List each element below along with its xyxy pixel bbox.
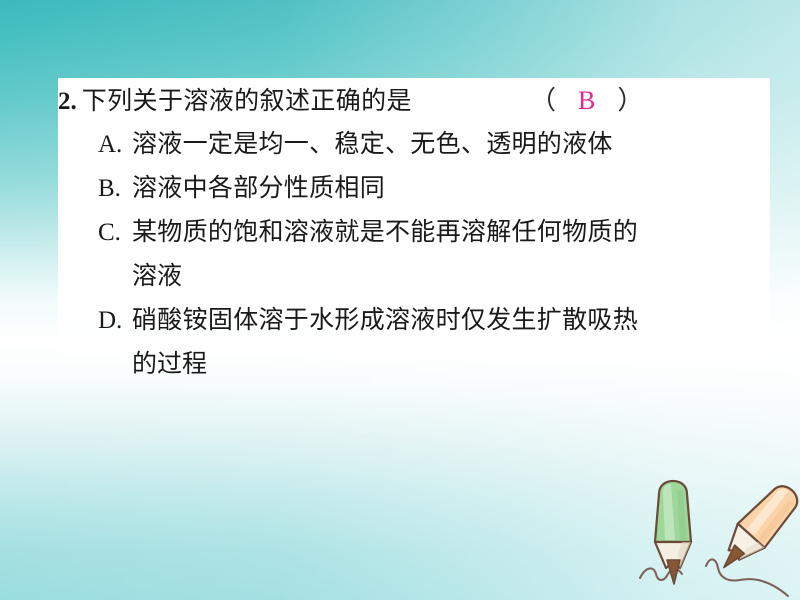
answer-bracket-group: （B） — [530, 80, 643, 117]
option-a[interactable]: A. 溶液一定是均一、稳定、无色、透明的液体 — [58, 123, 782, 167]
orange-pencil — [710, 478, 800, 579]
option-a-label: A. — [98, 123, 132, 167]
question-stem-row: 2. 下列关于溶液的叙述正确的是 （B） — [58, 80, 782, 123]
option-c-label: C. — [98, 211, 132, 255]
option-d-text-line2: 的过程 — [58, 343, 782, 387]
option-c[interactable]: C. 某物质的饱和溶液就是不能再溶解任何物质的 — [58, 211, 782, 255]
option-c-text-line2: 溶液 — [58, 255, 782, 299]
answer-letter: B — [556, 86, 617, 115]
answer-close-paren: ） — [617, 86, 643, 115]
option-b[interactable]: B. 溶液中各部分性质相同 — [58, 167, 782, 211]
green-pencil — [655, 481, 691, 584]
option-d-label: D. — [98, 299, 132, 343]
answer-open-paren: （ — [530, 86, 556, 115]
option-d-text: 硝酸铵固体溶于水形成溶液时仅发生扩散吸热 — [132, 299, 638, 343]
option-c-text: 某物质的饱和溶液就是不能再溶解任何物质的 — [132, 211, 638, 255]
option-a-text: 溶液一定是均一、稳定、无色、透明的液体 — [132, 123, 613, 167]
slide-canvas: 2. 下列关于溶液的叙述正确的是 （B） A. 溶液一定是均一、稳定、无色、透明… — [0, 0, 800, 600]
question-block: 2. 下列关于溶液的叙述正确的是 （B） A. 溶液一定是均一、稳定、无色、透明… — [58, 80, 782, 387]
question-number: 2. — [58, 81, 82, 123]
question-stem-text: 下列关于溶液的叙述正确的是 — [82, 81, 412, 123]
option-b-label: B. — [98, 167, 132, 211]
option-b-text: 溶液中各部分性质相同 — [132, 167, 385, 211]
pencils-decoration — [620, 470, 800, 600]
option-d[interactable]: D. 硝酸铵固体溶于水形成溶液时仅发生扩散吸热 — [58, 299, 782, 343]
scribble-line-right — [706, 559, 788, 596]
